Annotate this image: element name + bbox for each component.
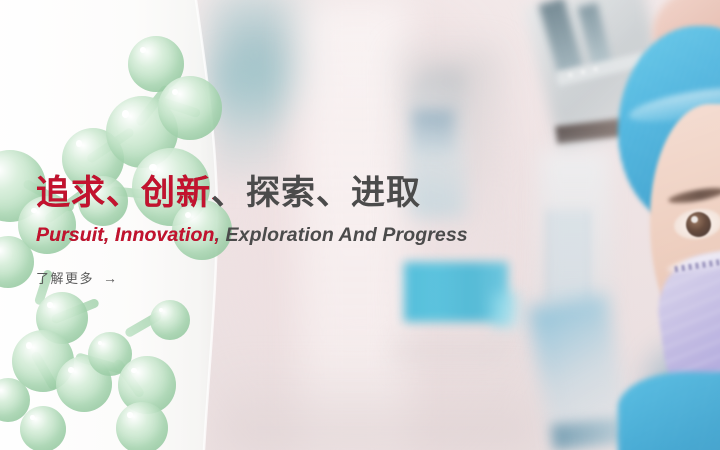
molecule-atom-highlight: [76, 140, 82, 146]
hero-banner: 追求、创新、探索、进取 追求、创新、探索、进取 Pursuit, Innovat…: [0, 0, 720, 450]
molecule-atom-highlight: [172, 89, 178, 95]
molecule-atom-highlight: [159, 308, 163, 312]
molecule-atom-highlight: [68, 367, 74, 373]
molecule-atom-highlight: [140, 47, 146, 53]
molecule-atom-highlight: [98, 341, 102, 345]
molecule-atom-highlight: [30, 415, 35, 420]
headline: 追求、创新、探索、进取 追求、创新、探索、进取: [36, 170, 676, 218]
molecule-atom: [116, 402, 168, 450]
molecule-atom-highlight: [131, 368, 137, 374]
molecule-atom-highlight: [127, 412, 132, 417]
molecule-atom: [158, 76, 222, 140]
subheadline: Pursuit, Innovation, Exploration And Pro…: [36, 222, 676, 250]
arrow-right-icon: →: [103, 270, 117, 286]
molecule-atom: [20, 406, 66, 450]
molecule-atom-highlight: [122, 110, 129, 117]
molecule-atom: [150, 300, 190, 340]
molecule-atom-highlight: [47, 302, 52, 307]
molecule-atom-highlight: [26, 342, 32, 348]
banner-copy: 追求、创新、探索、进取 追求、创新、探索、进取 Pursuit, Innovat…: [36, 170, 676, 250]
learn-more-button[interactable]: 了解更多 →: [36, 268, 117, 287]
learn-more-label: 了解更多: [36, 268, 94, 287]
